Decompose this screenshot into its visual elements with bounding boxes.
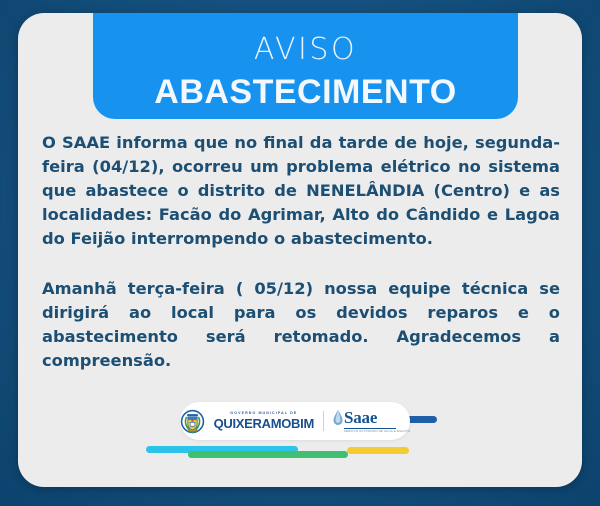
paragraph-2: Amanhã terça-feira ( 05/12) nossa equipe… [42,277,560,373]
quixeramobim-coat-of-arms-icon [180,409,205,434]
logo-divider [323,411,324,431]
government-kicker: GOVERNO MUNICIPAL DE [230,412,297,416]
footer-color-bar [18,446,582,458]
color-bar-yellow-segment [347,447,409,454]
header-kicker: AVISO [93,13,518,65]
notice-body: O SAAE informa que no final da tarde de … [18,131,582,373]
government-wordmark: GOVERNO MUNICIPAL DE QUIXERAMOBIM [214,412,314,431]
color-bar-green-segment [188,451,348,458]
footer: GOVERNO MUNICIPAL DE QUIXERAMOBIM Saae S… [18,402,582,462]
header-title: ABASTECIMENTO [93,65,518,109]
water-drop-icon [333,409,343,426]
notice-card: AVISO ABASTECIMENTO O SAAE informa que n… [18,13,582,487]
notice-poster: { "poster": { "background_color": "#0f52… [0,0,600,506]
saae-logo: Saae SERVIÇO AUTÔNOMO DE ÁGUA E ESGOTO [333,409,410,433]
header-banner: AVISO ABASTECIMENTO [93,13,518,119]
footer-logo-pill: GOVERNO MUNICIPAL DE QUIXERAMOBIM Saae S… [180,402,410,440]
saae-wordmark: Saae [344,409,377,426]
paragraph-1: O SAAE informa que no final da tarde de … [42,131,560,251]
city-name: QUIXERAMOBIM [214,417,314,430]
saae-subtitle: SERVIÇO AUTÔNOMO DE ÁGUA E ESGOTO [344,430,410,433]
